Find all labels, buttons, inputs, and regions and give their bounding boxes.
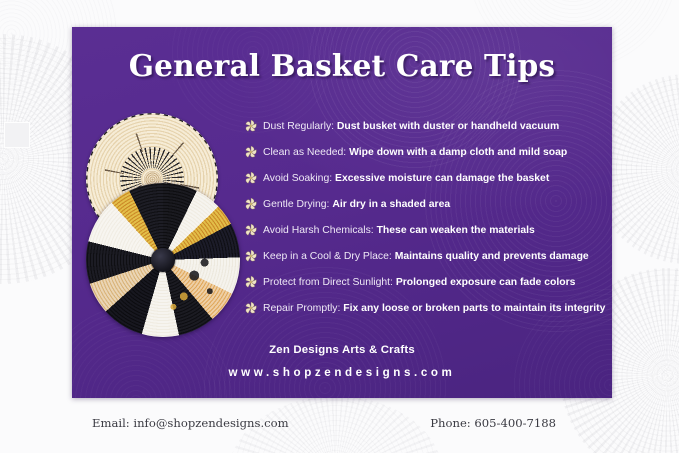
basket-center-hub — [151, 248, 174, 271]
tip-label: Keep in a Cool & Dry Place: — [263, 251, 392, 262]
tip-label: Protect from Direct Sunlight: — [263, 277, 393, 288]
tip-description: Dust busket with duster or handheld vacu… — [337, 121, 559, 132]
purple-flyer-panel: General Basket Care Tips — [72, 27, 612, 398]
page-title: General Basket Care Tips — [72, 48, 612, 83]
tip-label: Repair Promptly: — [263, 303, 340, 314]
list-item-text: Avoid Soaking: Excessive moisture can da… — [263, 174, 549, 184]
tip-label: Avoid Harsh Chemicals: — [263, 225, 374, 236]
list-item: Gentle Drying: Air dry in a shaded area — [244, 192, 604, 218]
website-url[interactable]: www.shopzendesigns.com — [72, 366, 612, 379]
list-item: Protect from Direct Sunlight: Prolonged … — [244, 270, 604, 296]
list-item: Repair Promptly: Fix any loose or broken… — [244, 296, 604, 322]
flower-bullet-icon — [244, 249, 258, 263]
email-text[interactable]: Email: info@shopzendesigns.com — [92, 416, 289, 430]
lower-patterned-basket-image — [86, 183, 240, 337]
tip-description: Fix any loose or broken parts to maintai… — [343, 303, 605, 314]
tip-description: Air dry in a shaded area — [332, 199, 450, 210]
flower-bullet-icon — [244, 275, 258, 289]
background-square-accent — [4, 122, 30, 148]
tip-description: Maintains quality and prevents damage — [395, 251, 589, 262]
flower-bullet-icon — [244, 197, 258, 211]
flower-bullet-icon — [244, 223, 258, 237]
basket-artwork — [80, 113, 252, 337]
contact-strip: Email: info@shopzendesigns.com Phone: 60… — [72, 416, 612, 430]
tip-label: Clean as Needed: — [263, 147, 346, 158]
list-item: Dust Regularly: Dust busket with duster … — [244, 114, 604, 140]
list-item-text: Clean as Needed: Wipe down with a damp c… — [263, 148, 567, 158]
list-item-text: Dust Regularly: Dust busket with duster … — [263, 122, 559, 132]
list-item: Clean as Needed: Wipe down with a damp c… — [244, 140, 604, 166]
tip-label: Gentle Drying: — [263, 199, 329, 210]
brand-name: Zen Designs Arts & Crafts — [72, 344, 612, 356]
flower-bullet-icon — [244, 145, 258, 159]
tip-description: Wipe down with a damp cloth and mild soa… — [349, 147, 567, 158]
tip-description: Prolonged exposure can fade colors — [396, 277, 576, 288]
list-item-text: Gentle Drying: Air dry in a shaded area — [263, 200, 450, 210]
flower-bullet-icon — [244, 171, 258, 185]
list-item-text: Avoid Harsh Chemicals: These can weaken … — [263, 226, 535, 236]
flower-bullet-icon — [244, 301, 258, 315]
flyer-page: General Basket Care Tips — [0, 0, 679, 453]
list-item: Avoid Soaking: Excessive moisture can da… — [244, 166, 604, 192]
list-item-text: Keep in a Cool & Dry Place: Maintains qu… — [263, 252, 589, 262]
tip-label: Avoid Soaking: — [263, 173, 332, 184]
list-item: Keep in a Cool & Dry Place: Maintains qu… — [244, 244, 604, 270]
care-tips-list: Dust Regularly: Dust busket with duster … — [244, 114, 604, 322]
tip-description: Excessive moisture can damage the basket — [335, 173, 549, 184]
flower-bullet-icon — [244, 119, 258, 133]
tip-label: Dust Regularly: — [263, 121, 334, 132]
list-item-text: Repair Promptly: Fix any loose or broken… — [263, 304, 605, 314]
list-item-text: Protect from Direct Sunlight: Prolonged … — [263, 278, 575, 288]
tip-description: These can weaken the materials — [377, 225, 535, 236]
list-item: Avoid Harsh Chemicals: These can weaken … — [244, 218, 604, 244]
phone-text[interactable]: Phone: 605-400-7188 — [430, 416, 556, 430]
